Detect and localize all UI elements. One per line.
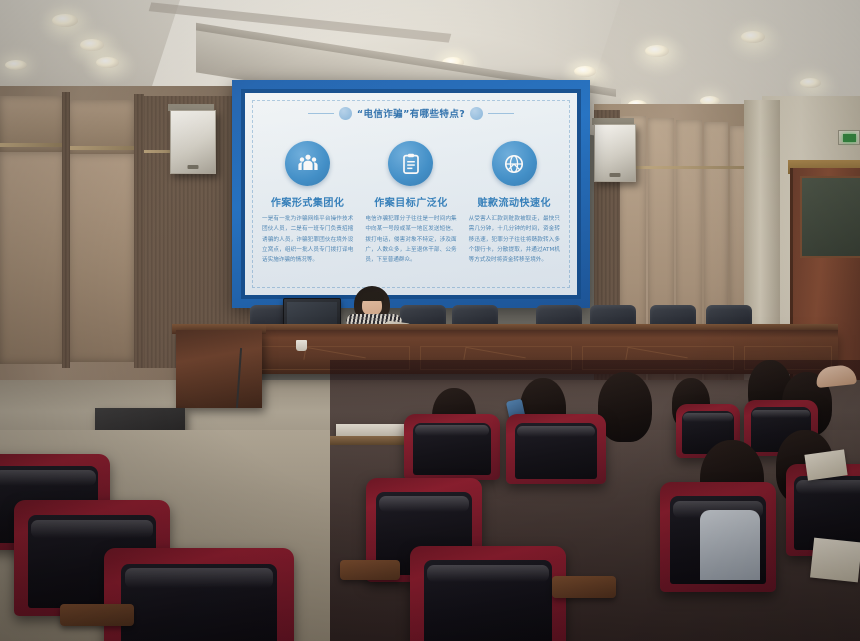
ceiling-downlight [800, 78, 821, 88]
wall-wood-strip [134, 94, 144, 368]
seat-highlight [125, 568, 273, 587]
wall-speaker-left [170, 110, 216, 174]
lectern [176, 330, 262, 408]
speaker-logo [610, 173, 621, 177]
seat-highlight [796, 480, 860, 495]
seat-armrest [340, 560, 400, 580]
slide-column-body: 从受害人汇款到赃款被取走，最快只需几分钟，十几分钟的时间，资金转移迅速，犯罪分子… [466, 214, 563, 266]
ceiling-downlight [741, 31, 765, 43]
slide-title-dot-right [470, 107, 483, 120]
seat-armrest [552, 576, 616, 598]
slide-column-3: 赃款流动快速化 从受害人汇款到赃款被取走，最快只需几分钟，十几分钟的时间，资金转… [466, 141, 563, 266]
presenter-fringe [360, 292, 384, 301]
slide-columns: 作案形式集团化 一是有一批为诈骗网络平台操作技术团伙人员，二是有一班专门负责招摍… [259, 141, 563, 266]
audience-paper [810, 538, 860, 583]
door-window [800, 176, 860, 258]
slide-title-rule-left [308, 113, 334, 114]
water-cup [296, 340, 307, 351]
slide-title-dot-left [339, 107, 352, 120]
panel-gold-trim [68, 146, 134, 150]
audience-paper [804, 449, 847, 480]
ceiling-downlight [645, 45, 669, 57]
acoustic-panel [0, 152, 64, 364]
slide-column-2: 作案目标广泛化 电信诈骗犯罪分子往往是一时间内集中向某一号段或某一地区发送短信、… [362, 141, 459, 266]
wall-wood-strip [62, 92, 70, 368]
ceiling-downlight [96, 57, 119, 68]
seat-highlight [379, 496, 469, 513]
slide-column-heading: 作案目标广泛化 [374, 194, 448, 209]
ceiling-downlight [574, 66, 596, 77]
slide-column-heading: 赃款流动快速化 [478, 194, 552, 209]
clipboard-checklist-icon [388, 141, 433, 186]
slide-title-row: “电信诈骗”有哪些特点? [245, 106, 577, 120]
seat-highlight [683, 413, 733, 422]
seat-highlight [427, 565, 549, 583]
speaker-face [171, 111, 215, 173]
slide-title: “电信诈骗”有哪些特点? [357, 106, 465, 120]
audience-seat [506, 414, 606, 484]
exit-sign-icon [843, 134, 856, 142]
empty-seat [410, 546, 566, 641]
acoustic-panel [68, 154, 134, 362]
seat-highlight [0, 470, 96, 485]
slide-column-body: 电信诈骗犯罪分子往往是一时间内集中向某一号段或某一地区发送短信、拨打电话，侵害对… [362, 214, 459, 266]
speaker-logo [188, 165, 199, 169]
audience-head [598, 372, 652, 442]
presentation-slide: “电信诈骗”有哪些特点? [245, 93, 577, 295]
people-group-icon [285, 141, 330, 186]
conference-room-photo: “电信诈骗”有哪些特点? [0, 0, 860, 641]
ceiling-downlight [80, 39, 104, 51]
seat-highlight [31, 520, 153, 539]
ceiling-downlight [52, 14, 78, 27]
projection-screen-frame: “电信诈骗”有哪些特点? [232, 80, 590, 308]
panel-gold-trim [0, 143, 62, 147]
slide-column-heading: 作案形式集团化 [271, 194, 345, 209]
empty-seat [104, 548, 294, 641]
audience-person-body [700, 510, 760, 580]
seat-highlight [415, 425, 490, 436]
globe-network-icon [492, 141, 537, 186]
seat-highlight [517, 426, 595, 437]
slide-column-body: 一是有一批为诈骗网络平台操作技术团伙人员，二是有一班专门负责招摍诱骗的人员，诈骗… [259, 214, 356, 266]
slide-title-rule-right [488, 113, 514, 114]
seat-armrest [60, 604, 134, 626]
audience-seat [404, 414, 500, 480]
ceiling-downlight [5, 60, 27, 70]
slide-column-1: 作案形式集团化 一是有一批为诈骗网络平台操作技术团伙人员，二是有一班专门负责招摍… [259, 141, 356, 266]
exit-sign [838, 130, 860, 145]
wall-speaker-right [594, 124, 636, 182]
panel-gold-trim [620, 166, 752, 169]
seat-highlight [752, 410, 810, 419]
